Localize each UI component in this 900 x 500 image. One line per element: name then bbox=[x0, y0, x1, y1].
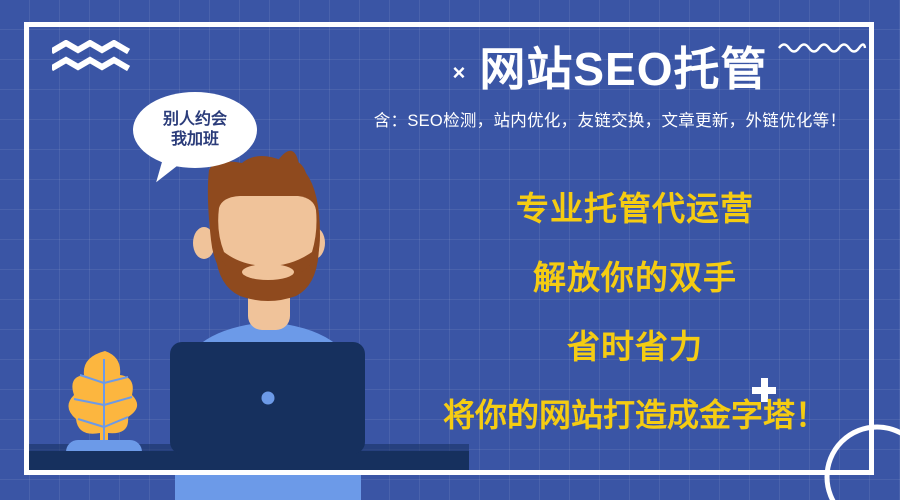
title-bullet-x-icon: × bbox=[452, 62, 465, 84]
speech-bubble: 别人约会 我加班 bbox=[133, 92, 257, 168]
slogan-line: 省时省力 bbox=[390, 330, 880, 363]
page-title: 网站SEO托管 bbox=[479, 44, 767, 95]
heading-block: × 网站SEO托管 含：SEO检测，站内优化，友链交换，文章更新，外链优化等！ bbox=[330, 44, 890, 131]
speech-bubble-line-2: 我加班 bbox=[171, 130, 219, 150]
laptop bbox=[170, 342, 365, 454]
laptop-logo-icon bbox=[261, 392, 274, 405]
slogan-line: 解放你的双手 bbox=[390, 261, 880, 294]
circle-outline-decoration bbox=[822, 422, 900, 500]
speech-bubble-line-1: 别人约会 bbox=[163, 110, 227, 130]
title-row: × 网站SEO托管 bbox=[330, 44, 890, 95]
poster-canvas: 别人约会 我加班 × 网站SEO托管 bbox=[0, 0, 900, 500]
plant-illustration bbox=[50, 345, 160, 460]
slogan-line: 将你的网站打造成金字塔！ bbox=[390, 399, 880, 431]
slogan-list: 专业托管代运营 解放你的双手 省时省力 将你的网站打造成金字塔！ bbox=[390, 192, 880, 431]
slogan-line: 专业托管代运营 bbox=[390, 192, 880, 225]
page-subtitle: 含：SEO检测，站内优化，友链交换，文章更新，外链优化等！ bbox=[330, 107, 890, 131]
